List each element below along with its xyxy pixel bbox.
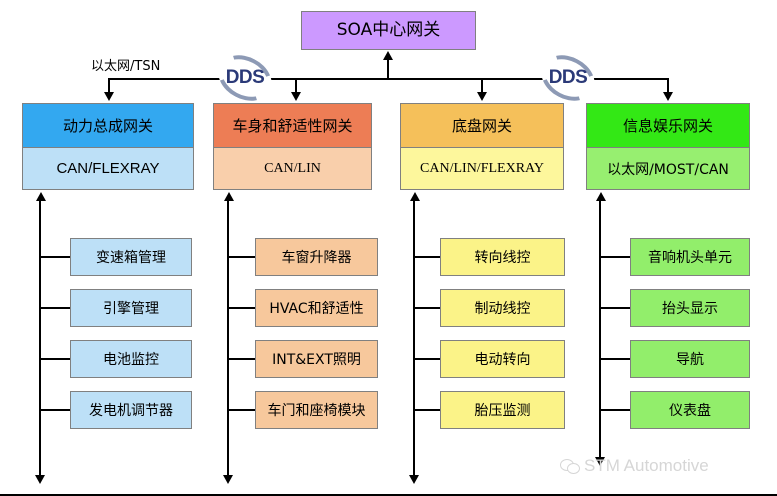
branch-powertrain-3 xyxy=(40,358,70,360)
subbus-powertrain-line xyxy=(39,199,41,476)
gateway-infotainment-protocol: 以太网/MOST/CAN xyxy=(586,148,750,190)
branch-infotainment-4 xyxy=(600,409,630,411)
watermark: STM Automotive xyxy=(560,456,709,476)
leaf-powertrain-4[interactable]: 发电机调节器 xyxy=(70,391,192,429)
branch-body-comfort-1 xyxy=(228,256,255,258)
subbus-chassis-down-arrow xyxy=(409,475,419,484)
subbus-chassis-line xyxy=(413,199,415,476)
branch-powertrain-2 xyxy=(40,307,70,309)
gateway-chassis[interactable]: 底盘网关 CAN/LIN/FLEXRAY xyxy=(400,103,564,190)
leaf-infotainment-1[interactable]: 音响机头单元 xyxy=(630,238,750,276)
branch-chassis-3 xyxy=(414,358,440,360)
leaf-chassis-3[interactable]: 电动转向 xyxy=(440,340,565,378)
leaf-chassis-4[interactable]: 胎压监测 xyxy=(440,391,565,429)
gateway-infotainment-title: 信息娱乐网关 xyxy=(586,103,750,148)
subbus-infotainment-line xyxy=(599,199,601,458)
drop-arrow-powertrain xyxy=(104,92,114,101)
branch-chassis-2 xyxy=(414,307,440,309)
branch-infotainment-3 xyxy=(600,358,630,360)
leaf-body-comfort-2[interactable]: HVAC和舒适性 xyxy=(255,289,378,327)
branch-chassis-1 xyxy=(414,256,440,258)
drop-line-infotainment xyxy=(667,78,669,93)
backbone-label: 以太网/TSN xyxy=(91,55,160,74)
soa-central-gateway-box[interactable]: SOA中心网关 xyxy=(301,11,476,50)
branch-infotainment-2 xyxy=(600,307,630,309)
branch-body-comfort-4 xyxy=(228,409,255,411)
branch-powertrain-4 xyxy=(40,409,70,411)
branch-infotainment-1 xyxy=(600,256,630,258)
drop-arrow-infotainment xyxy=(663,92,673,101)
diagram-canvas: SOA中心网关 以太网/TSN DDS DDS 动力总成网关 CAN/FLEXR… xyxy=(0,0,777,496)
leaf-body-comfort-1[interactable]: 车窗升降器 xyxy=(255,238,378,276)
gateway-powertrain[interactable]: 动力总成网关 CAN/FLEXRAY xyxy=(22,103,194,190)
gateway-chassis-protocol: CAN/LIN/FLEXRAY xyxy=(400,148,564,190)
leaf-infotainment-4[interactable]: 仪表盘 xyxy=(630,391,750,429)
gateway-powertrain-title: 动力总成网关 xyxy=(22,103,194,148)
gateway-infotainment[interactable]: 信息娱乐网关 以太网/MOST/CAN xyxy=(586,103,750,190)
leaf-chassis-1[interactable]: 转向线控 xyxy=(440,238,565,276)
branch-body-comfort-2 xyxy=(228,307,255,309)
subbus-body-comfort-down-arrow xyxy=(223,475,233,484)
gateway-body-comfort-title: 车身和舒适性网关 xyxy=(213,103,372,148)
leaf-powertrain-2[interactable]: 引擎管理 xyxy=(70,289,192,327)
leaf-infotainment-2[interactable]: 抬头显示 xyxy=(630,289,750,327)
branch-powertrain-1 xyxy=(40,256,70,258)
leaf-powertrain-3[interactable]: 电池监控 xyxy=(70,340,192,378)
dds-label-right: DDS xyxy=(549,67,588,89)
drop-arrow-chassis xyxy=(477,92,487,101)
branch-chassis-4 xyxy=(414,409,440,411)
subbus-body-comfort-up-arrow xyxy=(224,192,234,201)
drop-line-powertrain xyxy=(108,78,110,93)
branch-body-comfort-3 xyxy=(228,358,255,360)
gateway-powertrain-protocol: CAN/FLEXRAY xyxy=(22,148,194,190)
soa-uplink-arrowhead xyxy=(383,51,393,60)
leaf-chassis-2[interactable]: 制动线控 xyxy=(440,289,565,327)
subbus-chassis-up-arrow xyxy=(410,192,420,201)
leaf-infotainment-3[interactable]: 导航 xyxy=(630,340,750,378)
drop-line-chassis xyxy=(481,78,483,93)
subbus-infotainment-up-arrow xyxy=(596,192,606,201)
drop-arrow-body-comfort xyxy=(291,92,301,101)
dds-badge-right[interactable]: DDS xyxy=(540,57,596,99)
gateway-body-comfort[interactable]: 车身和舒适性网关 CAN/LIN xyxy=(213,103,372,190)
drop-line-body-comfort xyxy=(295,78,297,93)
watermark-text: STM Automotive xyxy=(584,456,709,476)
subbus-powertrain-down-arrow xyxy=(35,475,45,484)
leaf-body-comfort-4[interactable]: 车门和座椅模块 xyxy=(255,391,378,429)
dds-badge-left[interactable]: DDS xyxy=(217,57,273,99)
leaf-powertrain-1[interactable]: 变速箱管理 xyxy=(70,238,192,276)
gateway-chassis-title: 底盘网关 xyxy=(400,103,564,148)
soa-uplink-line xyxy=(387,58,389,80)
dds-label-left: DDS xyxy=(226,67,265,89)
wechat-icon xyxy=(560,458,579,475)
gateway-body-comfort-protocol: CAN/LIN xyxy=(213,148,372,190)
leaf-body-comfort-3[interactable]: INT&EXT照明 xyxy=(255,340,378,378)
subbus-powertrain-up-arrow xyxy=(36,192,46,201)
subbus-body-comfort-line xyxy=(227,199,229,476)
